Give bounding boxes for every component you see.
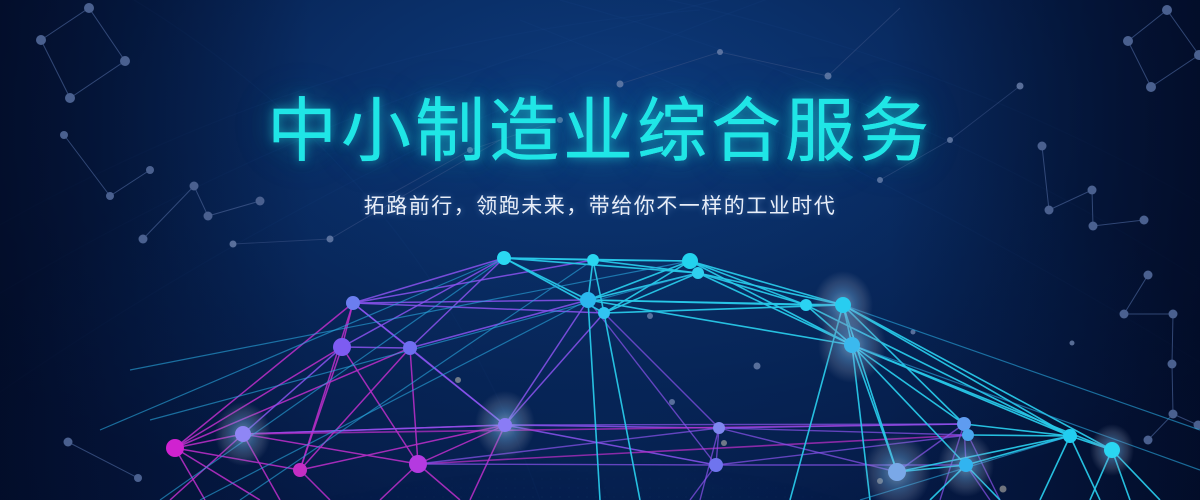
page-title: 中小制造业综合服务 (0, 96, 1200, 166)
wireframe-network-dome (0, 0, 1200, 500)
hero-text-block: 中小制造业综合服务 拓路前行，领跑未来，带给你不一样的工业时代 (0, 96, 1200, 220)
hero-banner: 中小制造业综合服务 拓路前行，领跑未来，带给你不一样的工业时代 (0, 0, 1200, 500)
page-subtitle: 拓路前行，领跑未来，带给你不一样的工业时代 (0, 190, 1200, 220)
